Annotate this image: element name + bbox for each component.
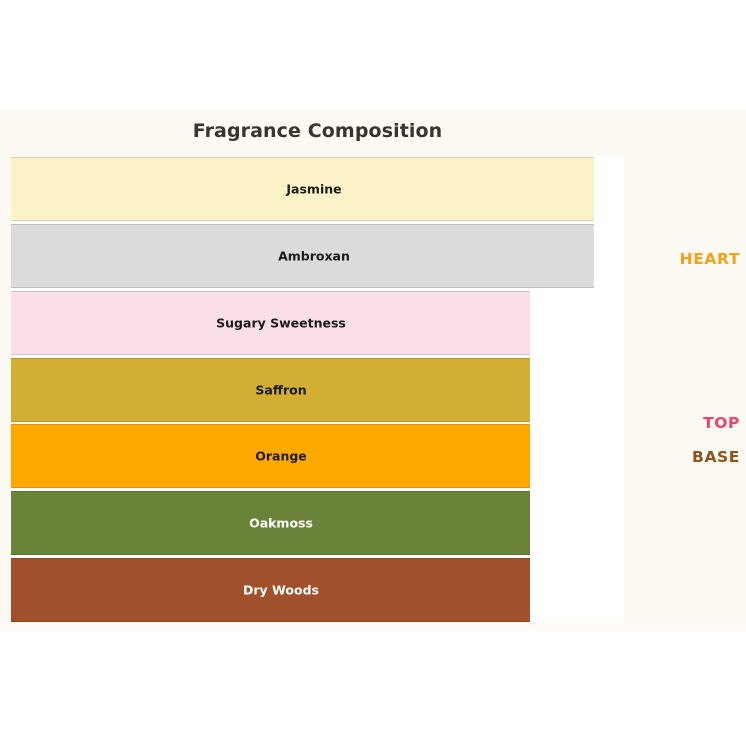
bar-segment[interactable]	[11, 424, 530, 488]
bar-segment[interactable]	[11, 491, 530, 555]
stage-label-top: TOP	[703, 414, 740, 432]
bar-row: Ambroxan	[11, 224, 624, 288]
bar-segment[interactable]	[11, 224, 594, 288]
bar-segment[interactable]	[11, 358, 530, 422]
bar-row: Sugary Sweetness	[11, 291, 624, 355]
figure-canvas: Fragrance Composition JasmineAmbroxanSug…	[0, 110, 746, 631]
page-title: Fragrance Composition	[0, 120, 635, 142]
bar-row: Saffron	[11, 358, 624, 422]
bar-row: Orange	[11, 424, 624, 488]
stage-label-base: BASE	[692, 448, 740, 466]
bar-row: Oakmoss	[11, 491, 624, 555]
bar-segment[interactable]	[11, 291, 530, 355]
bar-segment[interactable]	[11, 157, 594, 221]
stage-label-heart: HEART	[680, 250, 740, 268]
plot-area: JasmineAmbroxanSugary SweetnessSaffronOr…	[11, 156, 624, 623]
bar-row: Dry Woods	[11, 558, 624, 622]
bar-segment[interactable]	[11, 558, 530, 622]
bar-row: Jasmine	[11, 157, 624, 221]
